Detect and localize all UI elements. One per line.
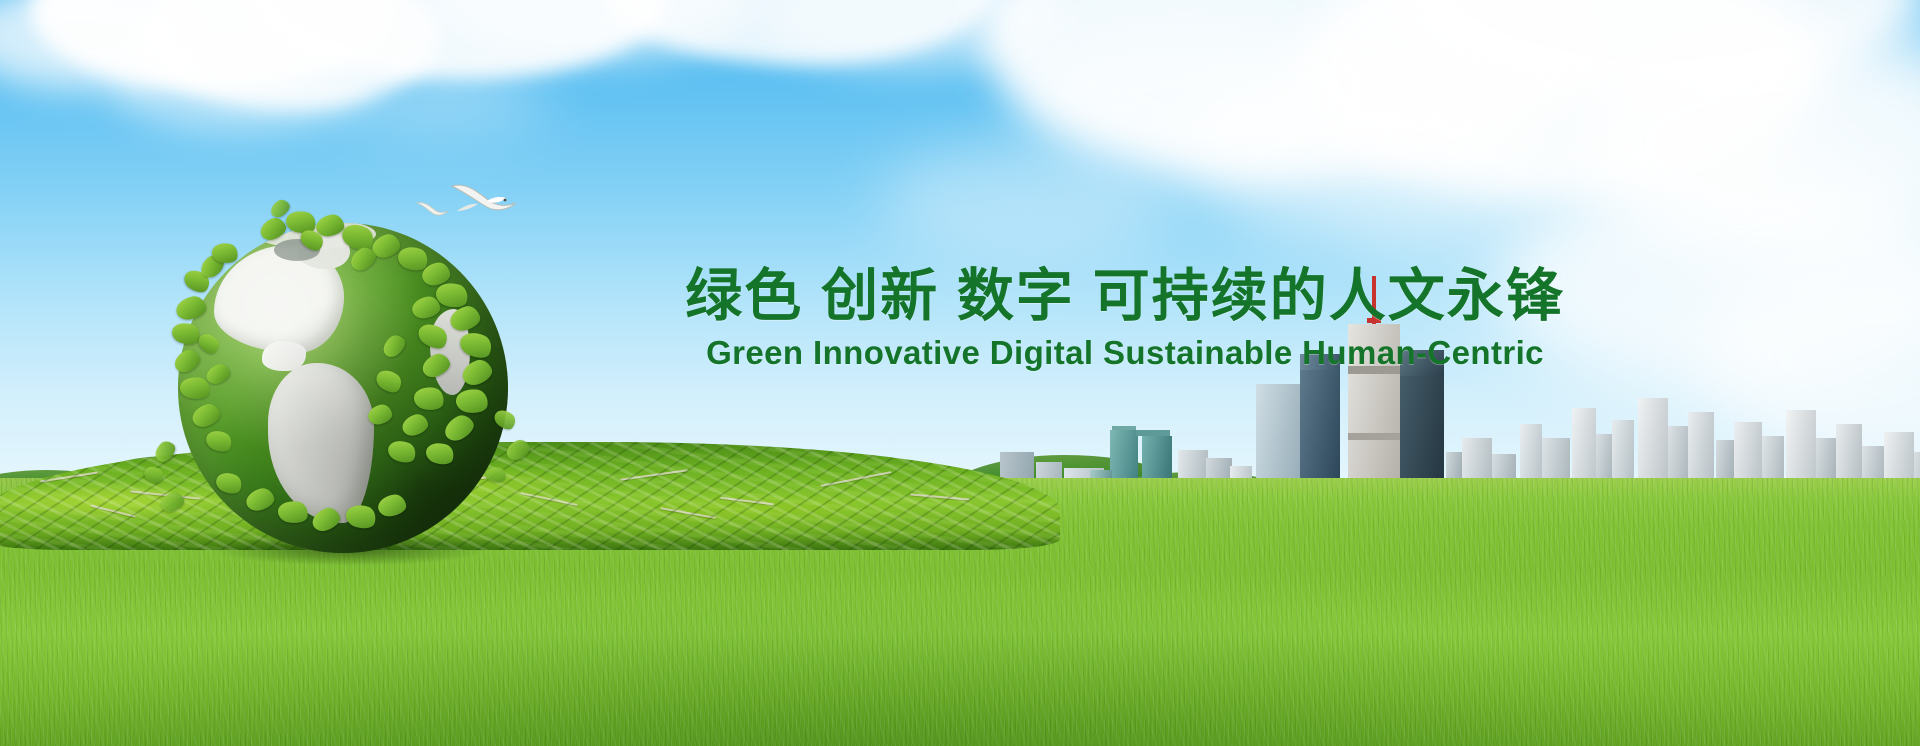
headline-english: Green Innovative Digital Sustainable Hum…	[675, 332, 1575, 374]
headline-block: 绿色 创新 数字 可持续的人文永锋 Green Innovative Digit…	[675, 262, 1575, 374]
headline-chinese: 绿色 创新 数字 可持续的人文永锋	[675, 262, 1575, 330]
earth-globe	[150, 205, 550, 575]
cloud-icon	[110, 40, 370, 130]
cloud-icon	[880, 140, 1180, 260]
globe-sphere	[178, 223, 508, 553]
green-banner: 绿色 创新 数字 可持续的人文永锋 Green Innovative Digit…	[0, 0, 1920, 746]
globe-shading	[178, 223, 508, 553]
cloud-icon	[330, 60, 550, 130]
